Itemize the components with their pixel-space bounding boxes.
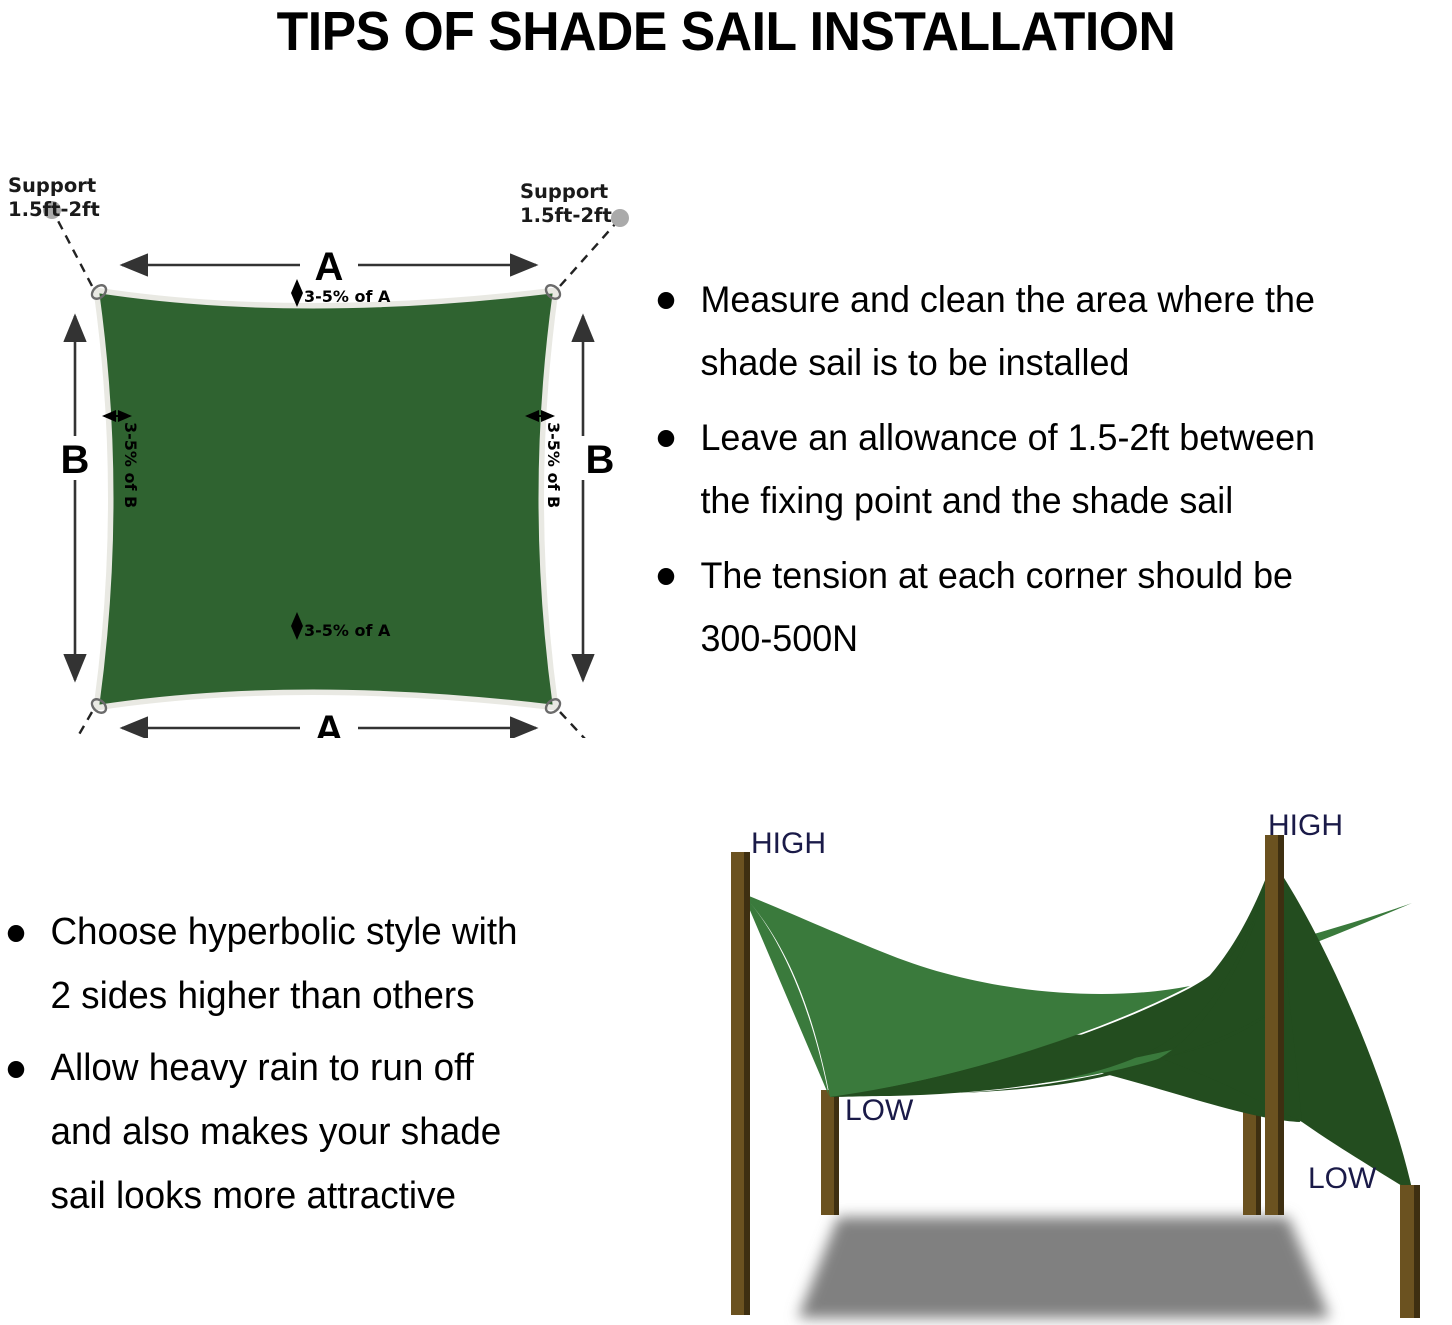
curvature-label-top: 3-5% of A — [304, 287, 391, 306]
ground-shadow — [798, 1217, 1330, 1318]
post-low-left — [821, 1090, 839, 1215]
list-item: Measure and clean the area where the sha… — [650, 268, 1431, 394]
support-label-top-left-line1: Support — [8, 174, 96, 197]
support-label-top-right-line1: Support — [520, 180, 608, 203]
hyperbolic-sail-diagram: HIGH HIGH LOW LOW — [690, 790, 1452, 1325]
hyperbolic-tips-section: Choose hyperbolic style with 2 sides hig… — [0, 900, 630, 1236]
rectangular-sail-diagram: A A B B 3-5% of A 3-5% of A — [0, 168, 660, 738]
installation-tips-section: Measure and clean the area where the sha… — [650, 268, 1452, 682]
dim-label-top-a: A — [315, 245, 344, 289]
sail-shape — [100, 294, 552, 704]
label-low-left: LOW — [845, 1094, 914, 1127]
hyperbolic-tips-list: Choose hyperbolic style with 2 sides hig… — [0, 900, 630, 1228]
list-item: The tension at each corner should be 300… — [650, 544, 1431, 670]
list-item: Allow heavy rain to run off and also mak… — [0, 1036, 611, 1228]
dim-label-left-b: B — [61, 438, 90, 482]
post-high-right — [1265, 835, 1284, 1215]
support-label-top-right-line2: 1.5ft-2ft — [520, 204, 612, 227]
support-label-top-left-line2: 1.5ft-2ft — [8, 198, 100, 221]
label-low-right: LOW — [1308, 1162, 1377, 1195]
label-high-right: HIGH — [1268, 809, 1343, 842]
dim-label-right-b: B — [586, 438, 615, 482]
list-item: Leave an allowance of 1.5-2ft between th… — [650, 406, 1431, 532]
installation-tips-list: Measure and clean the area where the sha… — [650, 268, 1452, 670]
list-item: Choose hyperbolic style with 2 sides hig… — [0, 900, 611, 1028]
page-title: TIPS OF SHADE SAIL INSTALLATION — [44, 0, 1409, 62]
post-high-left — [731, 852, 750, 1315]
curvature-label-bottom: 3-5% of A — [304, 621, 391, 640]
curvature-label-right: 3-5% of B — [544, 422, 563, 508]
curvature-label-left: 3-5% of B — [121, 422, 140, 508]
dim-label-bottom-a: A — [315, 708, 344, 738]
post-low-right — [1400, 1185, 1420, 1318]
label-high-left: HIGH — [751, 827, 826, 860]
